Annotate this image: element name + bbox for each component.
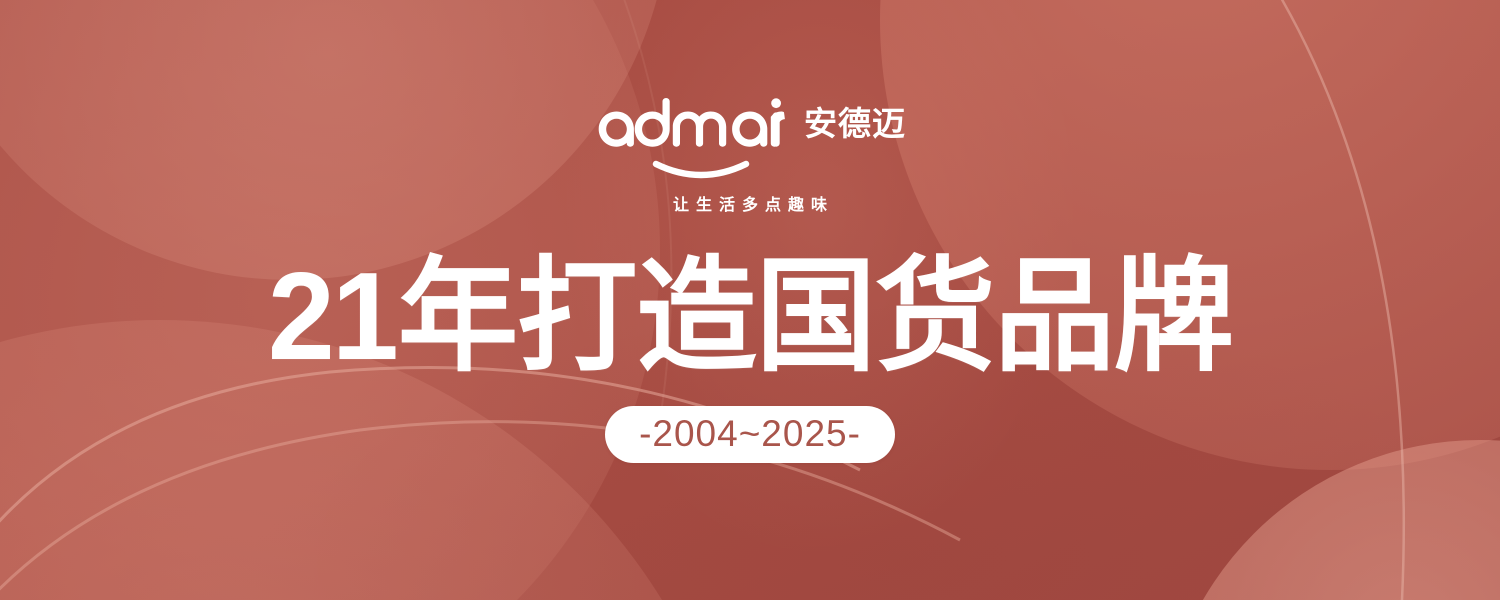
smile-curve-icon: [651, 160, 751, 182]
admair-wordmark: [594, 98, 790, 182]
promo-banner: 安德迈 让生活多点趣味 21年打造国货品牌 -2004~2025-: [0, 0, 1500, 600]
headline-years: 21: [267, 248, 395, 386]
headline-rest: 年打造国货品牌: [397, 248, 1232, 386]
year-range-badge: -2004~2025-: [605, 406, 895, 463]
headline: 21年打造国货品牌: [267, 254, 1232, 380]
brand-tagline: 让生活多点趣味: [666, 198, 834, 214]
admair-wordmark-glyphs: [594, 98, 790, 164]
brand-logo-lockup: 安德迈: [594, 98, 906, 182]
brand-cn-name: 安德迈: [804, 107, 906, 140]
banner-content: 安德迈 让生活多点趣味 21年打造国货品牌 -2004~2025-: [0, 0, 1500, 600]
